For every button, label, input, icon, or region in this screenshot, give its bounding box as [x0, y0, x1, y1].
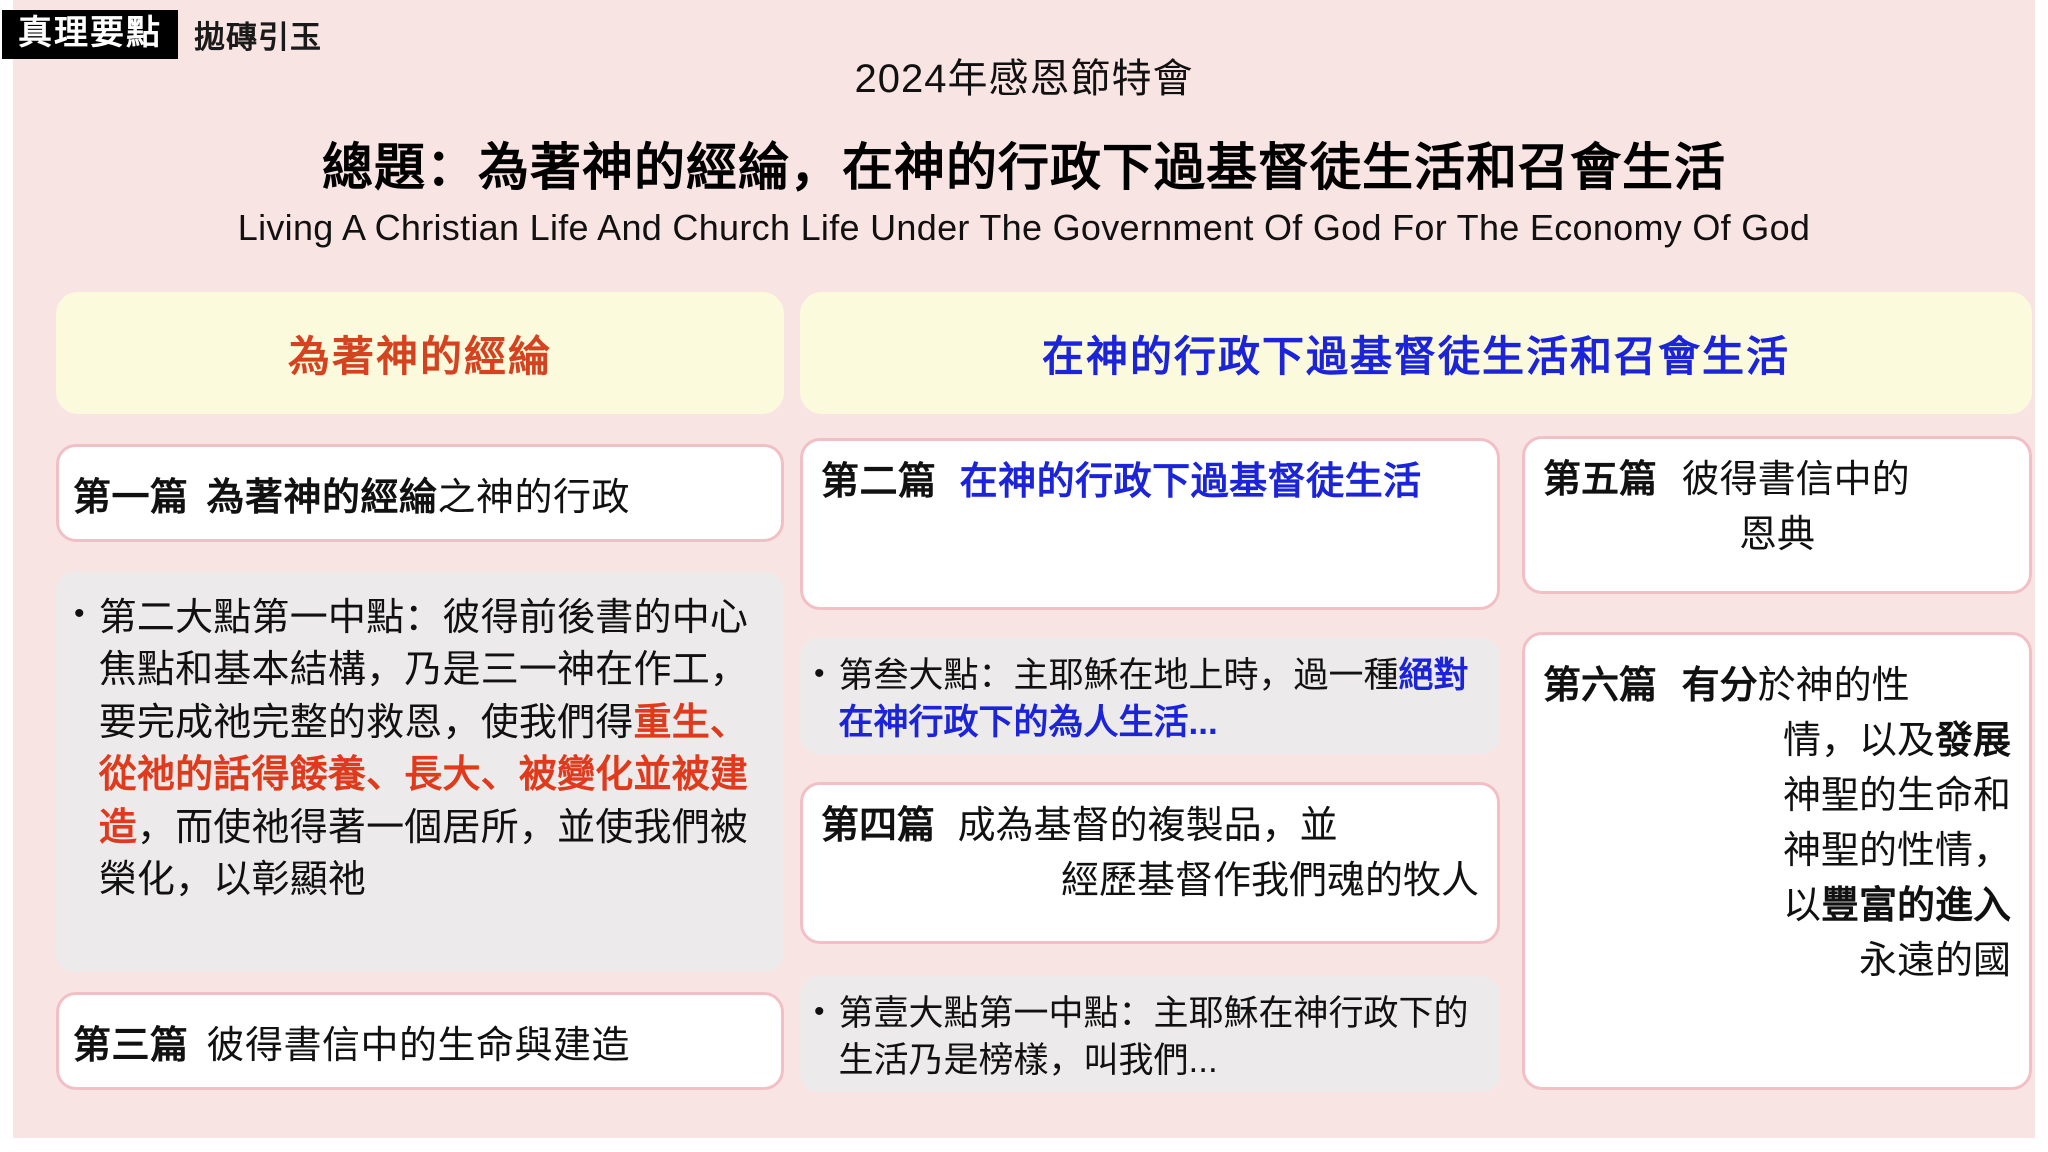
page-subtitle-english: Living A Christian Life And Church Life … [0, 207, 2048, 249]
banner-government-of-god: 在神的行政下過基督徒生活和召會生活 [800, 292, 2032, 414]
message-4-title-line1: 成為基督的複製品，並 [958, 805, 1338, 847]
message-3-title: 彼得書信中的生命與建造 [207, 1014, 631, 1069]
message-3-number: 第三篇 [73, 1014, 189, 1069]
message-6-seg-8: 豐富的進入 [1821, 885, 2011, 927]
truth-point-badge: 真理要點 [2, 10, 178, 59]
message-6-seg-4: 發展 [1935, 720, 2011, 762]
message-card-3[interactable]: 第三篇 彼得書信中的生命與建造 [56, 992, 784, 1090]
message-6-seg-9: 永遠的國 [1543, 934, 2011, 989]
point-box-1[interactable]: • 第二大點第一中點：彼得前後書的中心焦點和基本結構，乃是三一神在作工，要完成祂… [56, 572, 784, 972]
message-6-seg-3: 情，以及 [1783, 720, 1935, 762]
point-box-4[interactable]: • 第壹大點第一中點：主耶穌在神行政下的生活乃是榜樣，叫我們... [800, 976, 1500, 1092]
page-title: 總題：為著神的經綸，在神的行政下過基督徒生活和召會生活 [0, 126, 2048, 200]
bullet-icon: • [814, 990, 839, 1033]
banner-economy-of-god: 為著神的經綸 [56, 292, 784, 414]
message-1-title-rest: 之神的行政 [438, 466, 631, 521]
message-4-title-line2: 經歷基督作我們魂的牧人 [821, 854, 1479, 909]
message-card-5[interactable]: 第五篇 彼得書信中的 恩典 [1522, 436, 2032, 594]
message-6-seg-5: 神聖的生命和 [1543, 769, 2011, 824]
message-6-number: 第六篇 [1543, 665, 1657, 707]
message-6-seg-2: 於神的性 [1758, 665, 1910, 707]
slide-root: 真理要點 拋磚引玉 2024年感恩節特會 總題：為著神的經綸，在神的行政下過基督… [0, 0, 2048, 1152]
bullet-icon: • [74, 592, 99, 635]
point-2-lead: 第叁大點：主耶穌在地上時，過一種 [839, 656, 1399, 695]
message-1-title-bold: 為著神的經綸 [207, 466, 438, 521]
header-tagline: 拋磚引玉 [194, 12, 322, 57]
header-badge-row: 真理要點 拋磚引玉 [2, 10, 322, 59]
message-2-title: 在神的行政下過基督徒生活 [960, 461, 1422, 503]
message-card-6[interactable]: 第六篇 有分於神的性 情，以及發展 神聖的生命和 神聖的性情， 以豐富的進入 永… [1522, 632, 2032, 1090]
bullet-icon: • [814, 652, 839, 695]
message-5-title-line2: 恩典 [1543, 508, 2011, 563]
message-card-4[interactable]: 第四篇 成為基督的複製品，並 經歷基督作我們魂的牧人 [800, 782, 1500, 944]
message-card-2[interactable]: 第二篇 在神的行政下過基督徒生活 [800, 438, 1500, 610]
message-card-1[interactable]: 第一篇 為著神的經綸之神的行政 [56, 444, 784, 542]
message-4-number: 第四篇 [821, 805, 935, 847]
message-2-number: 第二篇 [821, 461, 937, 503]
point-1-tail: ，而使祂得著一個居所，並使我們被榮化，以彰顯祂 [99, 807, 748, 901]
point-box-2[interactable]: • 第叁大點：主耶穌在地上時，過一種絕對在神行政下的為人生活... [800, 638, 1500, 754]
message-1-number: 第一篇 [73, 466, 189, 521]
message-6-seg-7: 以 [1783, 885, 1821, 927]
point-4-text: 第壹大點第一中點：主耶穌在神行政下的生活乃是榜樣，叫我們... [839, 990, 1484, 1085]
message-5-title-line1: 彼得書信中的 [1682, 459, 1910, 501]
message-5-number: 第五篇 [1543, 459, 1657, 501]
message-6-seg-1: 有分 [1682, 665, 1758, 707]
message-6-seg-6: 神聖的性情， [1543, 824, 2011, 879]
